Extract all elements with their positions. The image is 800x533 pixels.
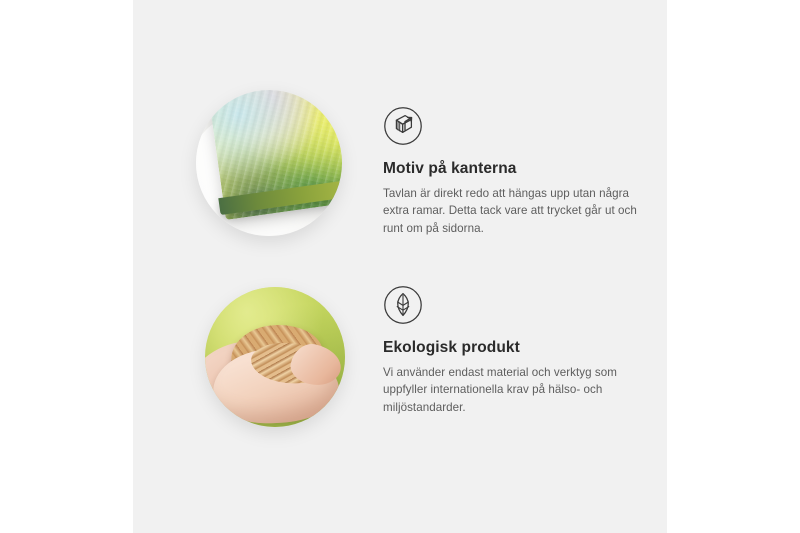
feature-block-eco: Ekologisk produkt Vi använder endast mat…: [383, 285, 658, 416]
content-panel: [133, 0, 667, 533]
wood-chips-photo: [205, 287, 345, 427]
leaf-icon: [383, 285, 423, 325]
feature-title: Motiv på kanterna: [383, 160, 648, 179]
canvas-edge-print-icon: [383, 106, 423, 146]
product-feature-banner: Motiv på kanterna Tavlan är direkt redo …: [0, 0, 800, 533]
canvas-print-photo: [196, 90, 342, 236]
feature-title: Ekologisk produkt: [383, 339, 658, 358]
feature-block-edges: Motiv på kanterna Tavlan är direkt redo …: [383, 106, 648, 237]
feature-description: Tavlan är direkt redo att hängas upp uta…: [383, 185, 648, 238]
feature-description: Vi använder endast material och verktyg …: [383, 364, 658, 417]
